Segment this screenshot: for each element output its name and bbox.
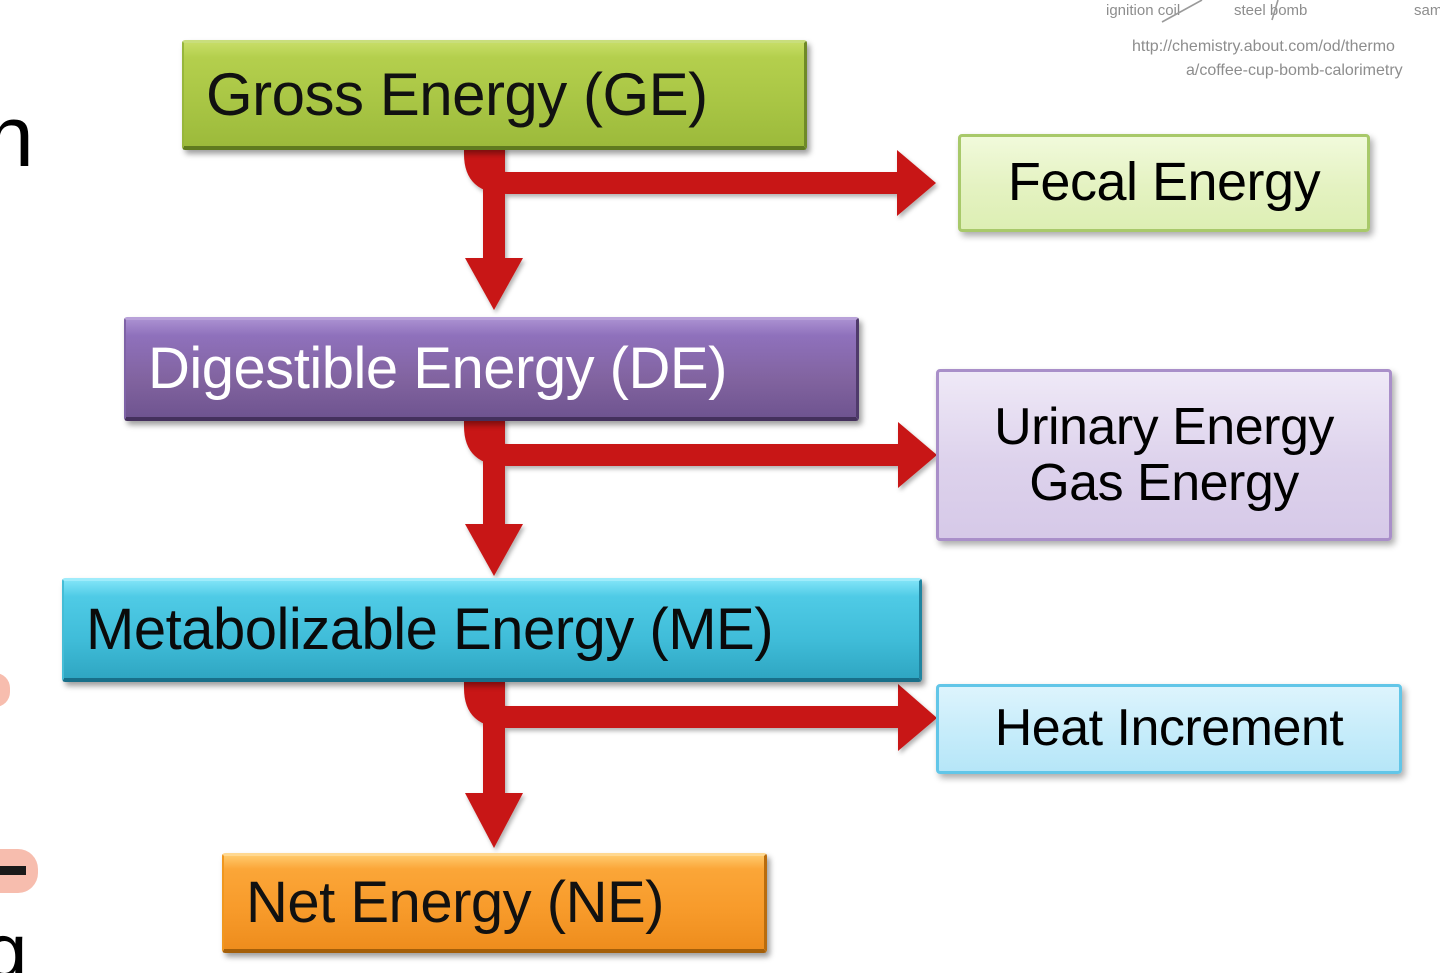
node-digestible-energy-label: Digestible Energy (DE) [148, 339, 856, 398]
node-urinary-gas-energy[interactable]: Urinary Energy Gas Energy [936, 369, 1392, 541]
node-heat-increment-label: Heat Increment [939, 702, 1399, 755]
diagram-canvas: ignition coil steel bomb sam http://chem… [0, 0, 1440, 973]
arrow-group-de [464, 418, 937, 576]
node-metabolizable-energy[interactable]: Metabolizable Energy (ME) [62, 578, 922, 682]
node-metabolizable-energy-label: Metabolizable Energy (ME) [86, 600, 919, 659]
arrow-de-to-urinary [464, 418, 937, 488]
node-fecal-energy-label: Fecal Energy [961, 155, 1367, 210]
arrow-group-me [464, 680, 937, 848]
node-heat-increment[interactable]: Heat Increment [936, 684, 1402, 774]
arrow-group-ge [464, 146, 936, 310]
node-gross-energy-label: Gross Energy (GE) [206, 64, 804, 125]
arrow-ge-to-fecal [464, 146, 936, 216]
node-fecal-energy[interactable]: Fecal Energy [958, 134, 1370, 232]
node-urinary-gas-energy-label: Urinary Energy Gas Energy [939, 399, 1389, 511]
node-gross-energy[interactable]: Gross Energy (GE) [182, 40, 807, 150]
node-net-energy-label: Net Energy (NE) [246, 873, 764, 932]
arrow-me-to-heat [464, 680, 937, 751]
node-net-energy[interactable]: Net Energy (NE) [222, 853, 767, 953]
node-digestible-energy[interactable]: Digestible Energy (DE) [124, 317, 859, 421]
